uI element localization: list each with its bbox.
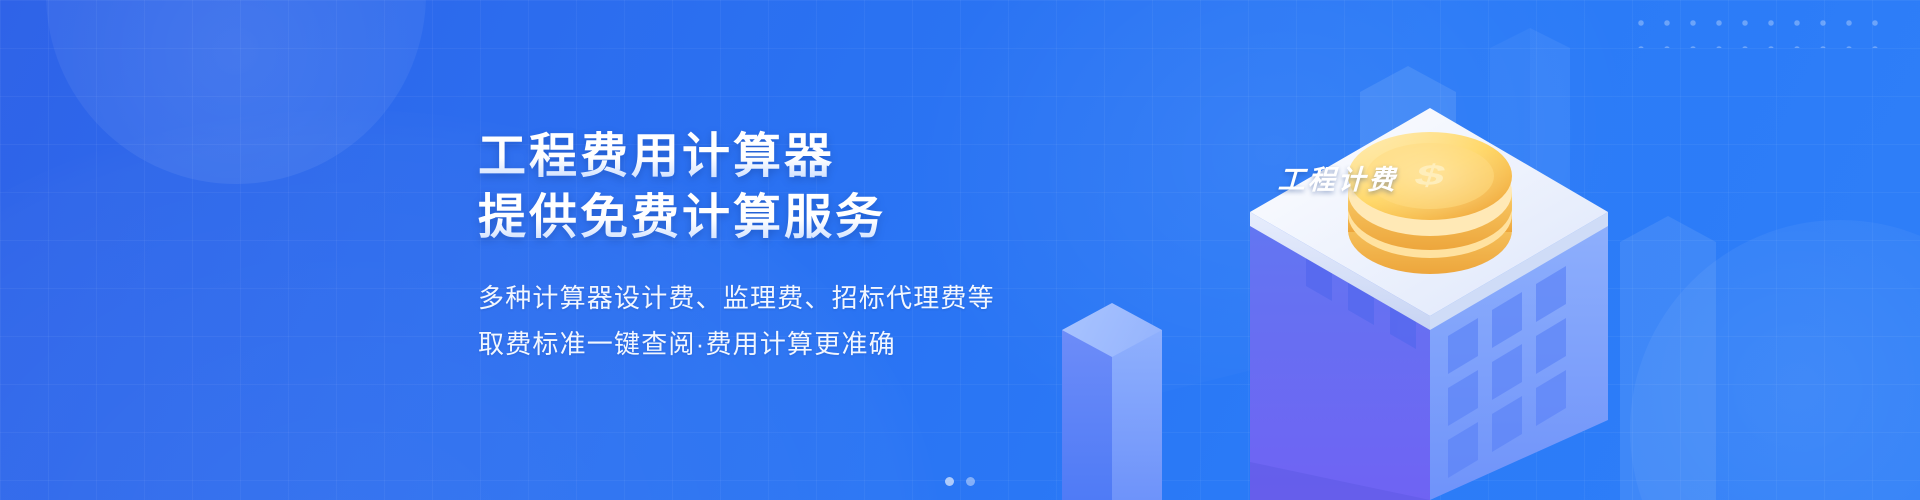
banner-subtitle-line2: 取费标准一键查阅·费用计算更准确 <box>478 323 1098 365</box>
banner-illustration: $ 工程计费 <box>1060 0 1920 500</box>
isometric-scene-svg: $ <box>1060 0 1920 500</box>
carousel-dot-2[interactable] <box>966 477 975 486</box>
illustration-badge-label: 工程计费 <box>1277 158 1398 197</box>
decorative-circle-top-left <box>46 0 426 184</box>
hero-banner: 工程费用计算器 提供免费计算服务 多种计算器设计费、监理费、招标代理费等 取费标… <box>0 0 1920 500</box>
banner-copy: 工程费用计算器 提供免费计算服务 多种计算器设计费、监理费、招标代理费等 取费标… <box>478 126 1098 365</box>
banner-subtitle-line1: 多种计算器设计费、监理费、招标代理费等 <box>478 277 1098 319</box>
carousel-indicators[interactable] <box>945 477 975 486</box>
page-title-line1: 工程费用计算器 <box>478 126 1098 187</box>
isometric-bar-far-right <box>1620 216 1716 500</box>
page-title-line2: 提供免费计算服务 <box>478 187 1098 248</box>
carousel-dot-1[interactable] <box>945 477 954 486</box>
dollar-coin-icon: $ <box>1348 132 1512 274</box>
isometric-bar-left <box>1062 303 1162 500</box>
